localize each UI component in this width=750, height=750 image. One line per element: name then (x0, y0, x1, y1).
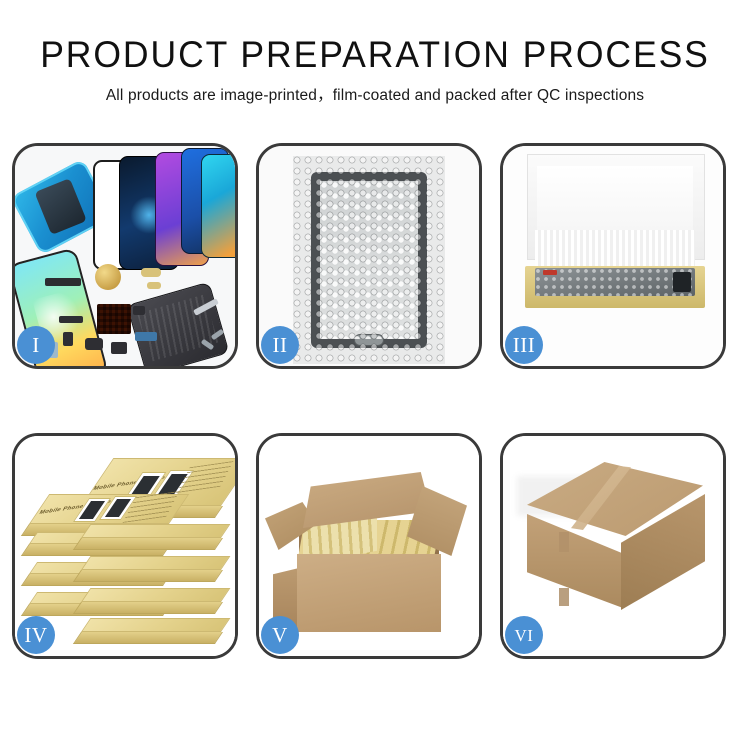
earpiece-speaker-part (45, 278, 81, 286)
box-lid-face (81, 588, 230, 602)
box-side-face (73, 570, 223, 582)
box-lid-face (81, 618, 230, 632)
retail-box-right-6 (81, 618, 221, 632)
red-label-mark (543, 270, 557, 275)
page-title: PRODUCT PREPARATION PROCESS (15, 34, 735, 76)
step-badge-6: VI (505, 616, 543, 654)
carton-front-face (297, 554, 441, 632)
retail-box-right-3 (81, 524, 221, 538)
page-subtitle: All products are image-printed，film-coat… (0, 85, 750, 107)
black-component-mark (673, 272, 691, 292)
step-badge-2: II (261, 326, 299, 364)
gold-contact-part (147, 282, 161, 289)
process-step-panel-2: II (256, 143, 482, 369)
retail-box-stack: Mobile Phone Spare Parts Mobile Phone Sp… (23, 458, 229, 640)
step-badge-1: I (17, 326, 55, 364)
retail-box-top-left: Mobile Phone Spare Parts (29, 494, 169, 524)
process-step-panel-1: I (12, 143, 238, 369)
bubble-texture-overlay (293, 156, 445, 364)
carton-seam-lower (559, 588, 569, 606)
vibration-motor-part (95, 264, 121, 290)
process-steps-grid: I II (12, 143, 738, 659)
bubble-wrap-photo (293, 156, 445, 364)
gold-flex-part (141, 268, 161, 277)
header: PRODUCT PREPARATION PROCESS All products… (0, 0, 750, 107)
box-side-face (73, 538, 223, 550)
battery-connector-part (111, 342, 127, 354)
box-side-face (73, 602, 223, 614)
flex-cable-part (59, 316, 83, 323)
step-badge-3: III (505, 326, 543, 364)
process-step-panel-5: V (256, 433, 482, 659)
process-step-panel-6: VI (500, 433, 726, 659)
small-connector-part (63, 332, 73, 346)
box-lid-face (81, 524, 230, 538)
phone-cyan-display (201, 154, 235, 258)
box-side-face (73, 632, 223, 644)
retail-box-right-4 (81, 556, 221, 570)
step-badge-4: IV (17, 616, 55, 654)
process-step-panel-4: Mobile Phone Spare Parts Mobile Phone Sp… (12, 433, 238, 659)
carton-seam-upper (559, 532, 569, 552)
blue-flex-part (135, 332, 157, 341)
camera-module-part (85, 338, 103, 350)
box-lid-face (81, 556, 230, 570)
step-badge-5: V (261, 616, 299, 654)
process-step-panel-3: III (500, 143, 726, 369)
chip-grid-part (97, 304, 131, 334)
retail-box-right-5 (81, 588, 221, 602)
tiny-ic-part (133, 306, 145, 315)
product-preparation-process-page: PRODUCT PREPARATION PROCESS All products… (0, 0, 750, 750)
packed-screen-in-box (535, 268, 695, 296)
phone-back-housing (126, 282, 229, 366)
